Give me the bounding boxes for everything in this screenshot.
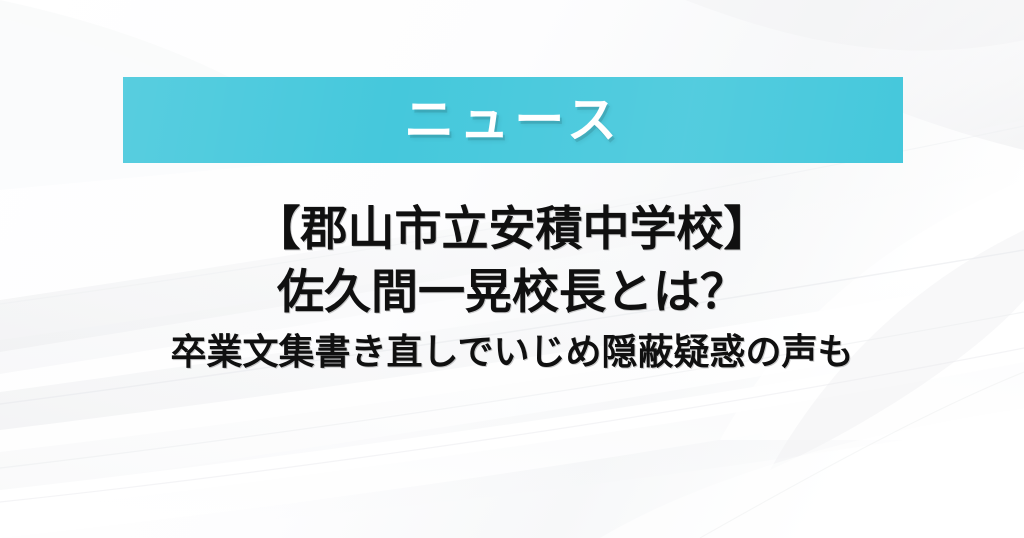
- headline-line-2: 佐久間一晃校長とは？: [0, 260, 1024, 324]
- headline-line-1: 【郡山市立安積中学校】: [0, 198, 1024, 260]
- headline-block: 【郡山市立安積中学校】 佐久間一晃校長とは？ 卒業文集書き直しでいじめ隠蔽疑惑の…: [0, 198, 1024, 380]
- news-banner: ニュース: [123, 77, 903, 163]
- headline-line-3: 卒業文集書き直しでいじめ隠蔽疑惑の声も: [0, 324, 1024, 380]
- news-banner-label: ニュース: [404, 95, 622, 145]
- news-eyecatch-image: ニュース 【郡山市立安積中学校】 佐久間一晃校長とは？ 卒業文集書き直しでいじめ…: [0, 0, 1024, 538]
